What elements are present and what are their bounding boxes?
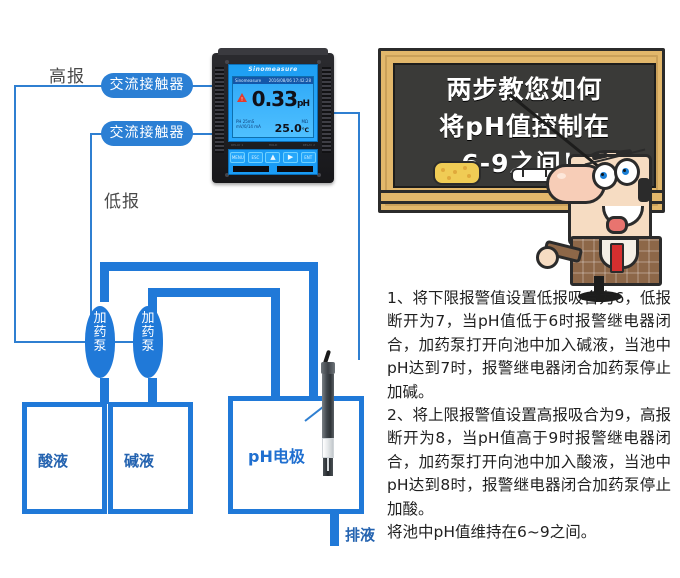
pump1-char-1: 加 [85,312,115,326]
wire-instrument-to-probe-horizontal [334,112,360,114]
pipe-outer-top [100,262,318,271]
wire-high-alarm-vertical-left [14,85,16,343]
pipe-outer-down-to-pool [309,262,318,396]
instructions-block: 1、将下限报警值设置低报吸合为6，低报断开为7，当pH值低于6时报警继电器闭合，… [387,287,671,544]
alkali-tank-label: 碱液 [124,450,154,471]
led-label-hold: HOLD [269,143,278,148]
pipe-inner-down-to-pool [271,288,280,396]
pump1-char-2: 药 [85,326,115,340]
instruction-step-1: 1、将下限报警值设置低报吸合为6，低报断开为7，当pH值低于6时报警继电器闭合，… [387,287,671,404]
terminal-slot-right [277,166,313,172]
pipe-drain [330,514,339,546]
electrode-tip [323,458,333,476]
contactor-2[interactable]: 交流接触器 [101,121,193,146]
pump2-char-2: 药 [133,326,163,340]
dosing-pump-alkali[interactable]: 加 药 泵 [133,306,163,378]
key-ent[interactable]: ENT [301,152,316,163]
device-vent-right [322,67,331,153]
electrode-white-band [322,438,334,458]
teacher-character [540,148,680,293]
terminal-slot-left [233,166,269,172]
dosing-pump-acid[interactable]: 加 药 泵 [85,306,115,378]
teacher-eye-right [614,158,640,186]
electrode-cap [321,362,335,374]
eraser-sponge-icon [433,161,481,185]
teacher-ear [638,178,650,202]
device-brand-text: Sinomeasure [229,66,317,73]
ph-reading-unit: pH [297,99,309,109]
electrode-body [322,374,334,438]
lcd-secondary-readout: PH 25mS mV/0/14 mA MΩ 25.0℃ [233,118,313,136]
lcd-status-bar: Sinomeasure 2016/08/06 17:42:28 [233,77,313,84]
wire-high-alarm-to-pump1 [14,341,96,343]
acid-tank-label: 酸液 [38,450,68,471]
pump2-char-1: 加 [133,312,163,326]
device-top-cap [218,48,328,55]
lcd-status-right: 2016/08/06 17:42:28 [269,78,311,83]
wire-instrument-to-probe-vertical [358,112,360,360]
key-right[interactable]: ▶ [283,152,298,163]
led-label-relay2: RELAY 2 [303,143,315,148]
teacher-hand [536,246,559,269]
label-high-alarm: 高报 [49,62,85,87]
ph-controller-device[interactable]: Sinomeasure Sinomeasure 2016/08/06 17:42… [212,53,334,183]
pipe-pump1-to-acid-tank [100,378,109,404]
pipe-inner-top [148,288,280,297]
instruction-step-2: 2、将上限报警值设置高报吸合为9，高报断开为8，当pH值高于9时报警继电器闭合，… [387,404,671,521]
alarm-warning-icon: ! [237,93,247,102]
teacher-torso [570,236,662,286]
lcd-content: Sinomeasure 2016/08/06 17:42:28 ! 0.33pH… [232,76,314,138]
ph-reading: 0.33pH [252,87,309,111]
blackboard-line-2: 将pH值控制在 [395,108,654,145]
device-led-row: RELAY 1 HOLD RELAY 2 [228,143,318,148]
lcd-meta-lines: PH 25mS mV/0/14 mA [236,119,261,129]
ph-electrode [320,360,336,484]
lcd-meta-line-2: mV/0/14 mA [236,124,261,129]
key-esc[interactable]: ESC [248,152,263,163]
teacher-necktie [610,243,624,273]
label-low-alarm: 低报 [104,187,140,212]
pump2-char-3: 泵 [133,340,163,354]
ph-reading-value: 0.33 [252,87,297,111]
pipe-pump2-to-alkali-tank [148,378,157,404]
device-vent-left [215,67,224,153]
contactor-1[interactable]: 交流接触器 [101,73,193,98]
pump1-char-3: 泵 [85,340,115,354]
device-keypad[interactable]: MENU ESC ▲ ▶ ENT [228,149,318,175]
lcd-main-reading: ! 0.33pH [233,84,313,118]
teacher-tongue [606,216,628,234]
temperature-reading: 25.0℃ [275,122,309,135]
lcd-status-left: Sinomeasure [235,78,261,83]
key-up[interactable]: ▲ [265,152,280,163]
led-label-relay1: RELAY 1 [231,143,243,148]
blackboard-line-1: 两步教您如何 [395,71,654,108]
instruction-summary: 将池中pH值维持在6~9之间。 [387,521,671,544]
drain-label: 排液 [345,524,375,545]
device-lcd-screen: Sinomeasure Sinomeasure 2016/08/06 17:42… [228,64,318,142]
temperature-unit: ℃ [302,127,309,134]
key-menu[interactable]: MENU [230,152,245,163]
temperature-value: 25.0 [275,122,302,135]
diagram-canvas: 高报 低报 交流接触器 交流接触器 加 药 泵 加 药 泵 酸液 碱液 pH电极… [0,0,680,578]
electrode-label: pH电极 [248,443,305,467]
